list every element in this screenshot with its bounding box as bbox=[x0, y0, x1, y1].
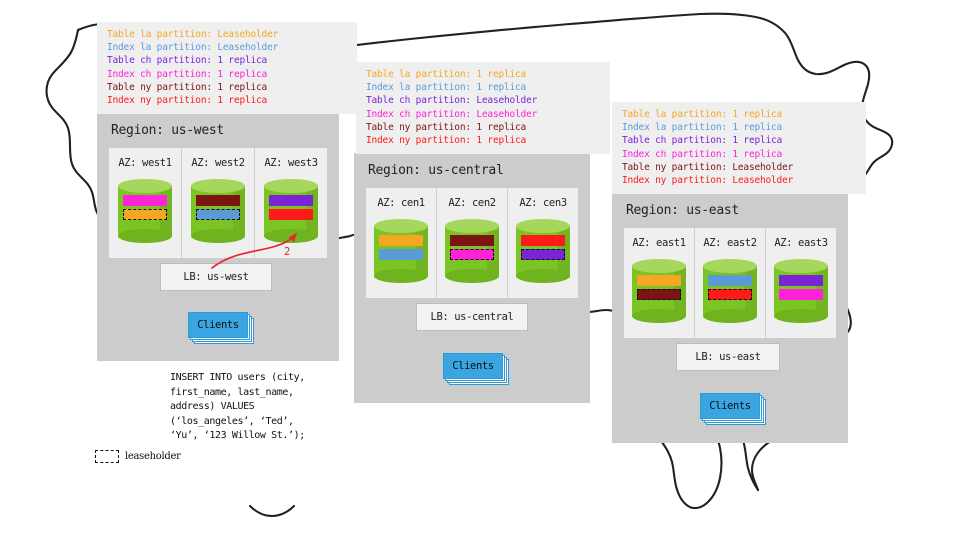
partition-band-replica bbox=[123, 195, 167, 206]
partition-band-group bbox=[708, 275, 752, 303]
partition-band-leaseholder bbox=[708, 289, 752, 300]
az-label: AZ: west3 bbox=[264, 157, 317, 169]
az-label: AZ: east1 bbox=[632, 237, 685, 249]
partition-band-replica bbox=[779, 275, 823, 286]
partition-band-replica bbox=[637, 275, 681, 286]
partition-band-replica bbox=[779, 289, 823, 300]
load-balancer-us-east[interactable]: LB: us-east bbox=[676, 343, 780, 371]
cylinder-bottom bbox=[703, 309, 757, 323]
cylinder-bottom bbox=[632, 309, 686, 323]
partition-band-replica bbox=[379, 235, 423, 246]
load-balancer-us-west[interactable]: LB: us-west bbox=[160, 263, 272, 291]
database-node-icon[interactable] bbox=[445, 219, 499, 283]
az-label: AZ: cen2 bbox=[448, 197, 495, 209]
partition-band-group bbox=[450, 235, 494, 263]
partition-legend-line: Index la partition: Leaseholder bbox=[107, 41, 349, 54]
az-column[interactable]: AZ: east3 bbox=[766, 228, 836, 338]
cylinder-top bbox=[516, 219, 570, 233]
clients-us-central[interactable]: Clients bbox=[443, 353, 501, 377]
cylinder-bottom bbox=[264, 229, 318, 243]
az-column[interactable]: AZ: west3 bbox=[255, 148, 327, 258]
cylinder-bottom bbox=[191, 229, 245, 243]
partition-band-leaseholder bbox=[196, 209, 240, 220]
partition-legend-line: Table ny partition: 1 replica bbox=[107, 81, 349, 94]
database-node-icon[interactable] bbox=[516, 219, 570, 283]
partition-band-replica bbox=[269, 209, 313, 220]
leaseholder-legend-label: leaseholder bbox=[125, 451, 181, 462]
az-label: AZ: west1 bbox=[118, 157, 171, 169]
partition-band-replica bbox=[521, 235, 565, 246]
partition-band-group bbox=[123, 195, 167, 223]
partition-band-replica bbox=[708, 275, 752, 286]
cylinder-top bbox=[191, 179, 245, 193]
partition-band-replica bbox=[269, 195, 313, 206]
leaseholder-legend: leaseholder bbox=[95, 450, 181, 463]
partition-legend-line: Index ny partition: Leaseholder bbox=[622, 174, 858, 187]
partition-legend-us-east: Table la partition: 1 replicaIndex la pa… bbox=[612, 102, 866, 194]
load-balancer-us-central[interactable]: LB: us-central bbox=[416, 303, 528, 331]
cylinder-top bbox=[703, 259, 757, 273]
partition-legend-line: Index ny partition: 1 replica bbox=[107, 94, 349, 107]
cylinder-top bbox=[632, 259, 686, 273]
cylinder-top bbox=[374, 219, 428, 233]
az-group-us-west: AZ: west1AZ: west2AZ: west3 bbox=[109, 148, 327, 258]
cylinder-bottom bbox=[774, 309, 828, 323]
partition-band-replica bbox=[196, 195, 240, 206]
az-column[interactable]: AZ: cen1 bbox=[366, 188, 437, 298]
partition-band-replica bbox=[450, 235, 494, 246]
partition-legend-line: Table la partition: 1 replica bbox=[366, 68, 602, 81]
az-column[interactable]: AZ: west2 bbox=[182, 148, 255, 258]
partition-band-group bbox=[521, 235, 565, 263]
partition-band-leaseholder bbox=[637, 289, 681, 300]
az-column[interactable]: AZ: east1 bbox=[624, 228, 695, 338]
region-title-us-central: Region: us-central bbox=[368, 163, 503, 178]
clients-us-west[interactable]: Clients bbox=[188, 312, 246, 336]
partition-legend-line: Index ch partition: Leaseholder bbox=[366, 108, 602, 121]
clients-us-east[interactable]: Clients bbox=[700, 393, 758, 417]
partition-legend-line: Table ch partition: 1 replica bbox=[622, 134, 858, 147]
az-column[interactable]: AZ: east2 bbox=[695, 228, 766, 338]
partition-legend-line: Table la partition: Leaseholder bbox=[107, 28, 349, 41]
database-node-icon[interactable] bbox=[191, 179, 245, 243]
clients-label-us-east: Clients bbox=[700, 393, 760, 419]
database-node-icon[interactable] bbox=[264, 179, 318, 243]
az-label: AZ: west2 bbox=[191, 157, 244, 169]
cylinder-top bbox=[445, 219, 499, 233]
database-node-icon[interactable] bbox=[703, 259, 757, 323]
database-node-icon[interactable] bbox=[374, 219, 428, 283]
partition-band-group bbox=[779, 275, 823, 303]
partition-legend-line: Index ny partition: 1 replica bbox=[366, 134, 602, 147]
partition-legend-line: Table ch partition: 1 replica bbox=[107, 54, 349, 67]
partition-band-group bbox=[379, 235, 423, 263]
partition-band-replica bbox=[379, 249, 423, 260]
cylinder-top bbox=[264, 179, 318, 193]
partition-legend-line: Index la partition: 1 replica bbox=[366, 81, 602, 94]
partition-legend-us-west: Table la partition: LeaseholderIndex la … bbox=[97, 22, 357, 114]
partition-band-leaseholder bbox=[123, 209, 167, 220]
partition-legend-line: Table la partition: 1 replica bbox=[622, 108, 858, 121]
az-column[interactable]: AZ: west1 bbox=[109, 148, 182, 258]
cylinder-top bbox=[774, 259, 828, 273]
region-title-us-east: Region: us-east bbox=[626, 203, 739, 218]
clients-label-us-west: Clients bbox=[188, 312, 248, 338]
cylinder-bottom bbox=[374, 269, 428, 283]
database-node-icon[interactable] bbox=[774, 259, 828, 323]
diagram-canvas: 2 Table la partition: LeaseholderIndex l… bbox=[0, 0, 960, 540]
database-node-icon[interactable] bbox=[118, 179, 172, 243]
az-label: AZ: cen3 bbox=[519, 197, 566, 209]
partition-legend-us-central: Table la partition: 1 replicaIndex la pa… bbox=[356, 62, 610, 154]
sql-insert-statement: INSERT INTO users (city, first_name, las… bbox=[170, 371, 305, 444]
database-node-icon[interactable] bbox=[632, 259, 686, 323]
partition-legend-line: Index la partition: 1 replica bbox=[622, 121, 858, 134]
partition-band-leaseholder bbox=[450, 249, 494, 260]
partition-legend-line: Table ch partition: Leaseholder bbox=[366, 94, 602, 107]
partition-band-group bbox=[637, 275, 681, 303]
az-column[interactable]: AZ: cen3 bbox=[508, 188, 578, 298]
az-group-us-central: AZ: cen1AZ: cen2AZ: cen3 bbox=[366, 188, 578, 298]
partition-legend-line: Index ch partition: 1 replica bbox=[622, 148, 858, 161]
region-title-us-west: Region: us-west bbox=[111, 123, 224, 138]
cylinder-bottom bbox=[118, 229, 172, 243]
partition-legend-line: Table ny partition: 1 replica bbox=[366, 121, 602, 134]
az-group-us-east: AZ: east1AZ: east2AZ: east3 bbox=[624, 228, 836, 338]
partition-legend-line: Index ch partition: 1 replica bbox=[107, 68, 349, 81]
partition-band-leaseholder bbox=[521, 249, 565, 260]
cylinder-top bbox=[118, 179, 172, 193]
cylinder-bottom bbox=[445, 269, 499, 283]
az-label: AZ: east3 bbox=[774, 237, 827, 249]
partition-legend-line: Table ny partition: Leaseholder bbox=[622, 161, 858, 174]
dashed-rectangle-icon bbox=[95, 450, 119, 463]
clients-label-us-central: Clients bbox=[443, 353, 503, 379]
partition-band-group bbox=[196, 195, 240, 223]
az-label: AZ: cen1 bbox=[377, 197, 424, 209]
cylinder-bottom bbox=[516, 269, 570, 283]
partition-band-group bbox=[269, 195, 313, 223]
az-label: AZ: east2 bbox=[703, 237, 756, 249]
az-column[interactable]: AZ: cen2 bbox=[437, 188, 508, 298]
arrow-step-number: 2 bbox=[284, 246, 290, 258]
